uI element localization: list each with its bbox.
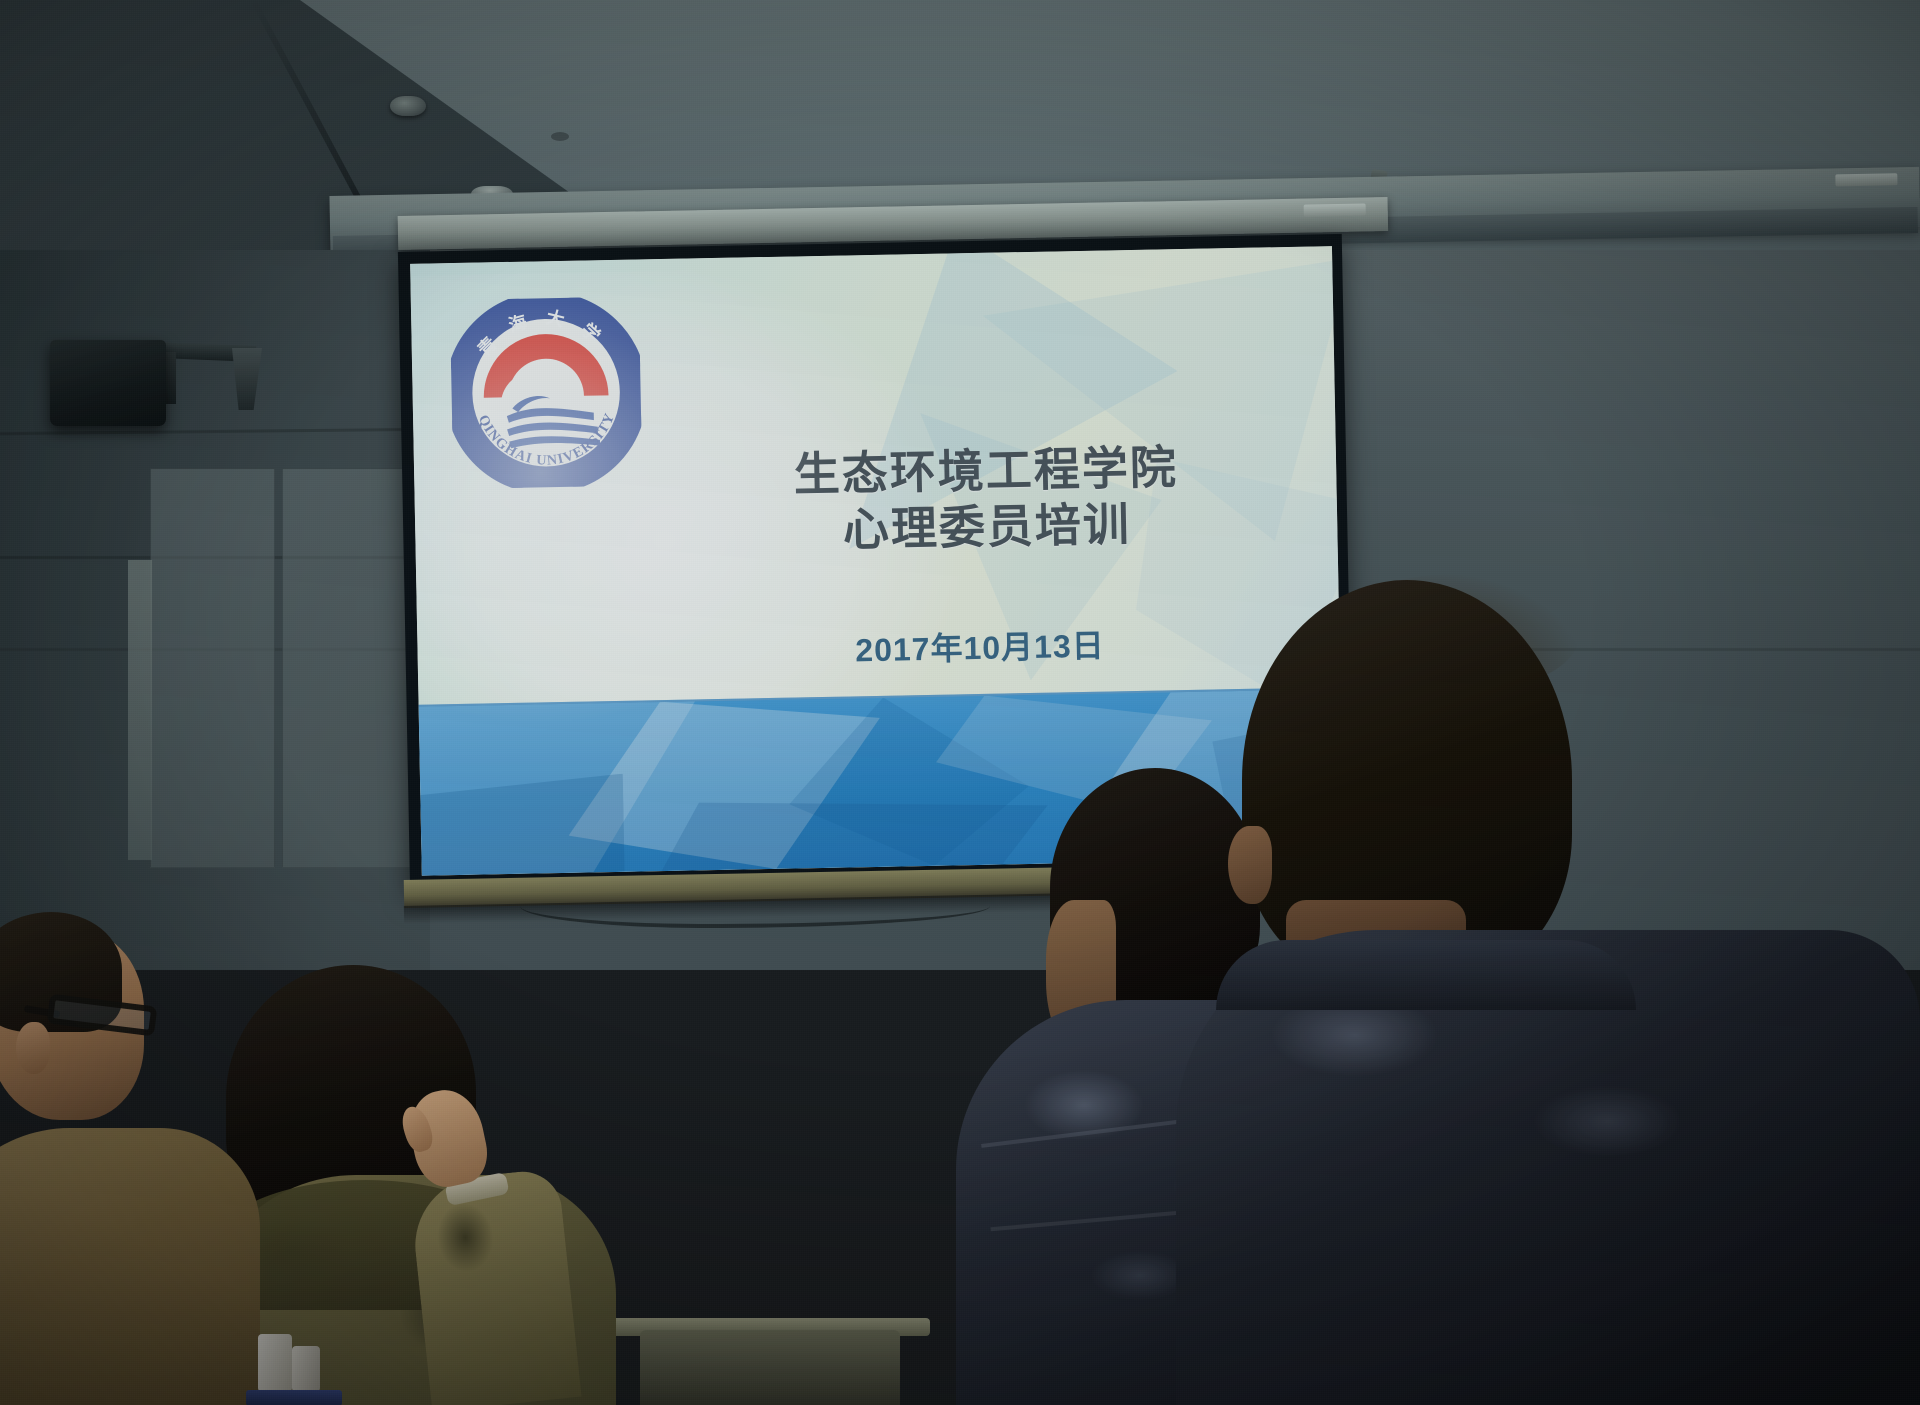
attendee-camo-arm (408, 1168, 581, 1405)
attendee-left-with-glasses-torso (0, 1128, 260, 1405)
white-bottle (258, 1334, 292, 1392)
attendee-foreground-right-ear (1228, 826, 1272, 904)
attendee-foreground-right-collar (1216, 940, 1636, 1010)
white-bottle-second (292, 1346, 320, 1392)
desk-blue-object (246, 1390, 342, 1405)
audience-foreground (0, 0, 1920, 1405)
photo-scene: 青海大学 QINGHAI UNIVERSITY 生态环境工程学院 心理委员培训 … (0, 0, 1920, 1405)
desk-front-panel (640, 1330, 900, 1405)
attendee-left-ear (16, 1022, 50, 1074)
